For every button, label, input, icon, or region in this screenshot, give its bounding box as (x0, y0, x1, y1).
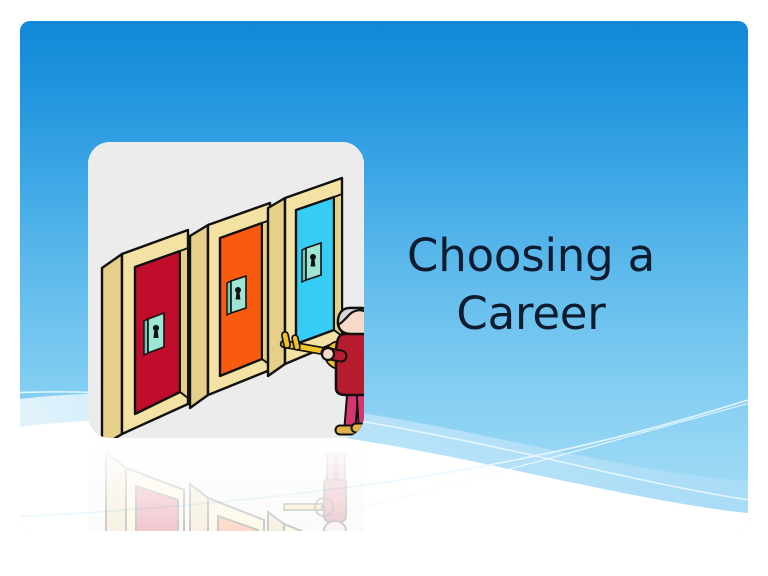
slide-canvas: Choosing a Career (0, 0, 768, 576)
page-title: Choosing a Career (376, 227, 686, 343)
doors-clipart-image (88, 142, 364, 438)
orange-door-keyhole (227, 276, 246, 315)
wave-white-secondary (20, 459, 748, 531)
slide-surface: Choosing a Career (20, 21, 748, 531)
red-door-keyhole (144, 313, 164, 355)
picture-reflection (88, 440, 364, 531)
cyan-door-keyhole (302, 243, 321, 282)
red-door (102, 230, 188, 438)
